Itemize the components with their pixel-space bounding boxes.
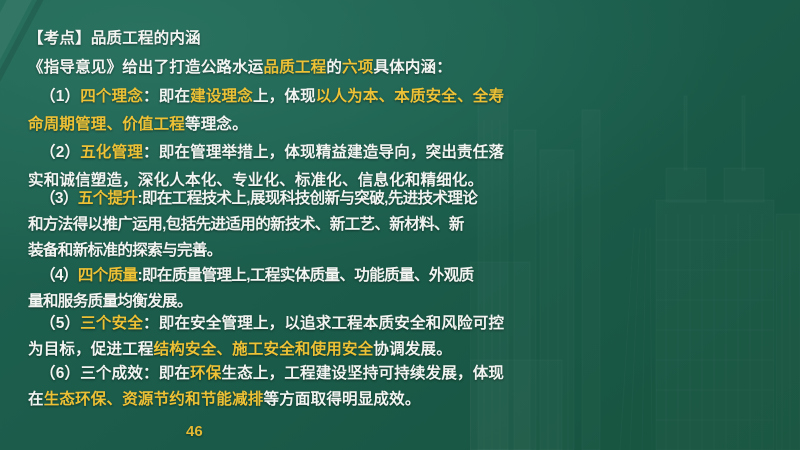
highlighted-text-run: 以人为本、本质安全、全寿 — [316, 88, 504, 105]
text-run: 【考点】 — [28, 30, 91, 47]
text-run: 等理念。 — [185, 116, 248, 133]
text-run: 和方法得以推广运用,包括先进适用的新技术、新工艺、新材料、新 — [28, 216, 464, 233]
line-item1-a: （1）四个理念：即在建设理念上，体现以人为本、本质安全、全寿 — [40, 84, 504, 106]
highlighted-text-run: 命周期管理、价值工程 — [28, 116, 185, 133]
line-item2-a: （2）五化管理：即在管理举措上，体现精益建造导向，突出责任落 — [40, 140, 504, 162]
text-run: ：即在 — [143, 88, 190, 105]
text-run: 协调发展。 — [373, 341, 452, 358]
line-item4-a: （4）四个质量:即在质量管理上,工程实体质量、功能质量、外观质 — [40, 263, 474, 285]
text-run: （2） — [40, 144, 80, 161]
line-item6-b: 在生态环保、资源节约和节能减排等方面取得明显成效。 — [28, 387, 421, 409]
line-item3-b: 和方法得以推广运用,包括先进适用的新技术、新工艺、新材料、新 — [28, 212, 464, 234]
text-run: 为目标，促进工程 — [28, 341, 154, 358]
text-run: :即在工程技术上,展现科技创新与突破,先进技术理论 — [137, 190, 477, 207]
line-heading: 【考点】品质工程的内涵 — [28, 26, 201, 48]
text-run: 量和服务质量均衡发展。 — [28, 293, 192, 310]
highlighted-text-run: 四个理念 — [80, 88, 143, 105]
highlighted-text-run: 建设理念 — [190, 88, 253, 105]
text-run: ：即在管理举措上，体现精益建造导向，突出责任落 — [143, 144, 504, 161]
line-item5-a: （5）三个安全：即在安全管理上，以追求工程本质安全和风险可控 — [40, 311, 504, 333]
line-intro: 《指导意见》给出了打造公路水运品质工程的六项具体内涵： — [28, 55, 452, 77]
text-run: （4） — [40, 267, 78, 284]
line-item1-b: 命周期管理、价值工程等理念。 — [28, 112, 248, 134]
line-item3-a: （3）五个提升:即在工程技术上,展现科技创新与突破,先进技术理论 — [40, 186, 477, 208]
text-run: 装备和新标准的探索与完善。 — [28, 242, 222, 259]
highlighted-text-run: 结构安全、施工安全和使用安全 — [154, 341, 374, 358]
highlighted-text-run: 环保 — [190, 365, 221, 382]
slide-text-body: 【考点】品质工程的内涵《指导意见》给出了打造公路水运品质工程的六项具体内涵：（1… — [0, 0, 800, 450]
highlighted-text-run: 三个安全 — [80, 315, 143, 332]
highlighted-text-run: 四个质量 — [78, 267, 138, 284]
text-run: （6）三个成效：即在 — [40, 365, 190, 382]
line-item4-b: 量和服务质量均衡发展。 — [28, 289, 192, 311]
text-run: 品质工程的内涵 — [91, 30, 201, 47]
text-run: ：即在安全管理上，以追求工程本质安全和风险可控 — [143, 315, 504, 332]
slide-canvas: 【考点】品质工程的内涵《指导意见》给出了打造公路水运品质工程的六项具体内涵：（1… — [0, 0, 800, 450]
text-run: 等方面取得明显成效。 — [264, 391, 421, 408]
page-number: 46 — [186, 423, 203, 440]
highlighted-text-run: 生态环保、资源节约和节能减排 — [44, 391, 264, 408]
line-item3-c: 装备和新标准的探索与完善。 — [28, 238, 222, 260]
highlighted-text-run: 五个提升 — [78, 190, 138, 207]
line-item5-b: 为目标，促进工程结构安全、施工安全和使用安全协调发展。 — [28, 337, 452, 359]
highlighted-text-run: 六项 — [342, 59, 373, 76]
highlighted-text-run: 品质工程 — [264, 59, 327, 76]
text-run: （3） — [40, 190, 78, 207]
line-item6-a: （6）三个成效：即在环保生态上，工程建设坚持可持续发展，体现 — [40, 361, 504, 383]
text-run: 《指导意见》给出了打造公路水运 — [28, 59, 264, 76]
text-run: 生态上，工程建设坚持可持续发展，体现 — [222, 365, 505, 382]
text-run: 具体内涵： — [373, 59, 452, 76]
text-run: :即在质量管理上,工程实体质量、功能质量、外观质 — [137, 267, 473, 284]
text-run: （5） — [40, 315, 80, 332]
text-run: （1） — [40, 88, 80, 105]
text-run: 上，体现 — [253, 88, 316, 105]
text-run: 在 — [28, 391, 44, 408]
text-run: 的 — [326, 59, 342, 76]
highlighted-text-run: 五化管理 — [80, 144, 143, 161]
